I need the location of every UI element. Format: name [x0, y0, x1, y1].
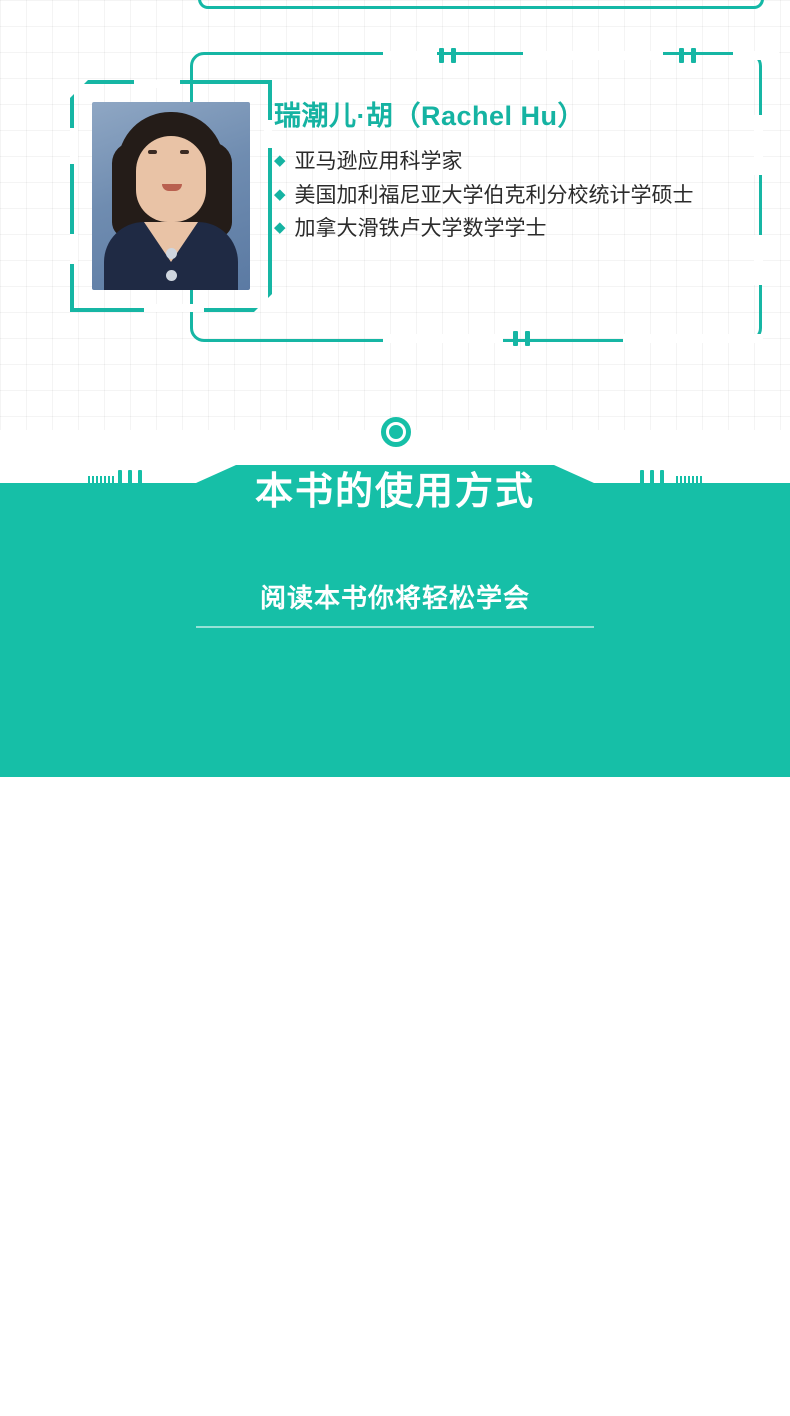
arrow-body	[378, 1375, 422, 1388]
arrow-head	[418, 1368, 444, 1394]
author-name: 瑞潮儿·胡（Rachel Hu）	[274, 94, 585, 133]
author-bio-card: 瑞潮儿·胡（Rachel Hu） ◆ 亚马逊应用科学家 ◆ 美国加利福尼亚大学伯…	[62, 52, 762, 347]
photo-frame-notch	[68, 234, 78, 264]
list-item: ◆ 美国加利福尼亚大学伯克利分校统计学硕士	[274, 182, 774, 210]
frame-notch	[523, 51, 663, 60]
photo-frame-notch	[144, 304, 204, 314]
diamond-bullet-icon: ◆	[274, 215, 286, 241]
portrait-eye-right	[180, 150, 189, 154]
list-item: ◆ 加拿大滑铁卢大学数学学士	[274, 215, 774, 243]
flow-source-line1: 基础知识和	[104, 1348, 330, 1382]
frame-notch	[383, 334, 503, 343]
frame-tick	[513, 331, 518, 346]
brace-icon: {	[64, 1340, 85, 1402]
portrait-button	[166, 248, 177, 259]
credential-text: 加拿大滑铁卢大学数学学士	[295, 215, 547, 243]
photo-frame-notch	[134, 78, 180, 88]
flow-source-label: 基础知识和 预备知识	[104, 1348, 330, 1416]
author-photo-container	[62, 80, 280, 316]
frame-notch	[623, 334, 763, 343]
frame-tick	[439, 48, 444, 63]
flow-target-line1: 请阅读	[498, 1348, 728, 1382]
frame-notch	[383, 51, 437, 60]
photo-frame-notch	[68, 128, 78, 164]
author-portrait	[92, 102, 250, 290]
subtitle-underline	[196, 626, 594, 628]
section-title: 本书的使用方式	[0, 460, 790, 515]
previous-card-fragment	[198, 0, 764, 9]
frame-notch	[733, 51, 779, 60]
frame-tick	[691, 48, 696, 63]
band-circle-dot	[389, 425, 403, 439]
arrow-right-icon	[378, 1368, 446, 1394]
portrait-button	[166, 270, 177, 281]
portrait-face	[136, 136, 206, 222]
section-subtitle: 阅读本书你将轻松学会	[0, 578, 790, 615]
credential-text: 亚马逊应用科学家	[295, 148, 463, 176]
frame-tick	[525, 331, 530, 346]
frame-tick	[451, 48, 456, 63]
reading-flow: { 基础知识和 预备知识 请阅读 第1章~第4章	[0, 668, 790, 768]
page-root: 瑞潮儿·胡（Rachel Hu） ◆ 亚马逊应用科学家 ◆ 美国加利福尼亚大学伯…	[0, 0, 790, 777]
photo-frame-notch	[264, 120, 274, 148]
flow-source-line2: 预备知识	[104, 1382, 330, 1416]
credential-text: 美国加利福尼亚大学伯克利分校统计学硕士	[295, 182, 694, 210]
diamond-bullet-icon: ◆	[274, 148, 286, 174]
flow-target-line2: 第1章~第4章	[498, 1382, 728, 1416]
frame-tick	[679, 48, 684, 63]
diamond-bullet-icon: ◆	[274, 182, 286, 208]
list-item: ◆ 亚马逊应用科学家	[274, 148, 774, 176]
author-credentials-list: ◆ 亚马逊应用科学家 ◆ 美国加利福尼亚大学伯克利分校统计学硕士 ◆ 加拿大滑铁…	[274, 148, 774, 249]
portrait-eye-left	[148, 150, 157, 154]
flow-target-label: 请阅读 第1章~第4章	[498, 1348, 728, 1416]
